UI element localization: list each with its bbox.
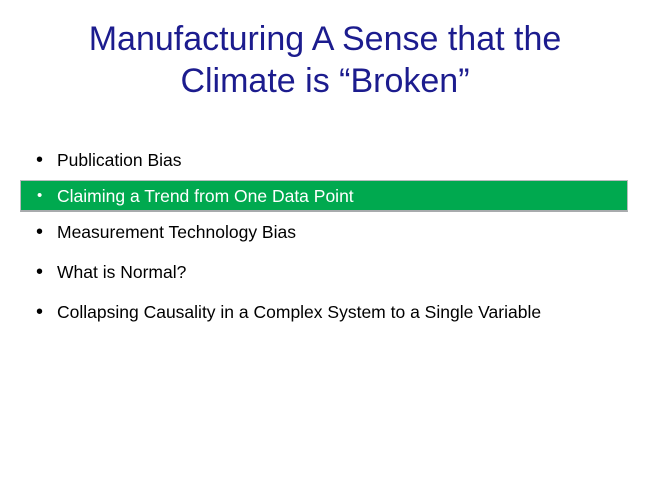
presentation-slide: Manufacturing A Sense that the Climate i… xyxy=(0,0,650,488)
page-title: Manufacturing A Sense that the Climate i… xyxy=(30,18,620,102)
list-item-label: Claiming a Trend from One Data Point xyxy=(57,186,627,206)
bullet-list: • Publication Bias • Claiming a Trend fr… xyxy=(0,140,650,332)
bullet-dot-icon: • xyxy=(36,302,57,322)
list-item-highlighted[interactable]: • Claiming a Trend from One Data Point xyxy=(20,180,628,212)
bullet-dot-icon: • xyxy=(36,222,57,242)
list-item[interactable]: • Publication Bias xyxy=(0,140,650,180)
bullet-dot-icon: • xyxy=(37,188,57,203)
list-item-label: Measurement Technology Bias xyxy=(57,222,650,242)
list-item-label: Publication Bias xyxy=(57,150,650,170)
list-item-label: What is Normal? xyxy=(57,262,650,282)
list-item[interactable]: • Measurement Technology Bias xyxy=(0,212,650,252)
bullet-dot-icon: • xyxy=(36,150,57,170)
list-item[interactable]: • What is Normal? xyxy=(0,252,650,292)
list-item[interactable]: • Collapsing Causality in a Complex Syst… xyxy=(0,292,650,332)
list-item-label: Collapsing Causality in a Complex System… xyxy=(57,302,650,322)
bullet-dot-icon: • xyxy=(36,262,57,282)
